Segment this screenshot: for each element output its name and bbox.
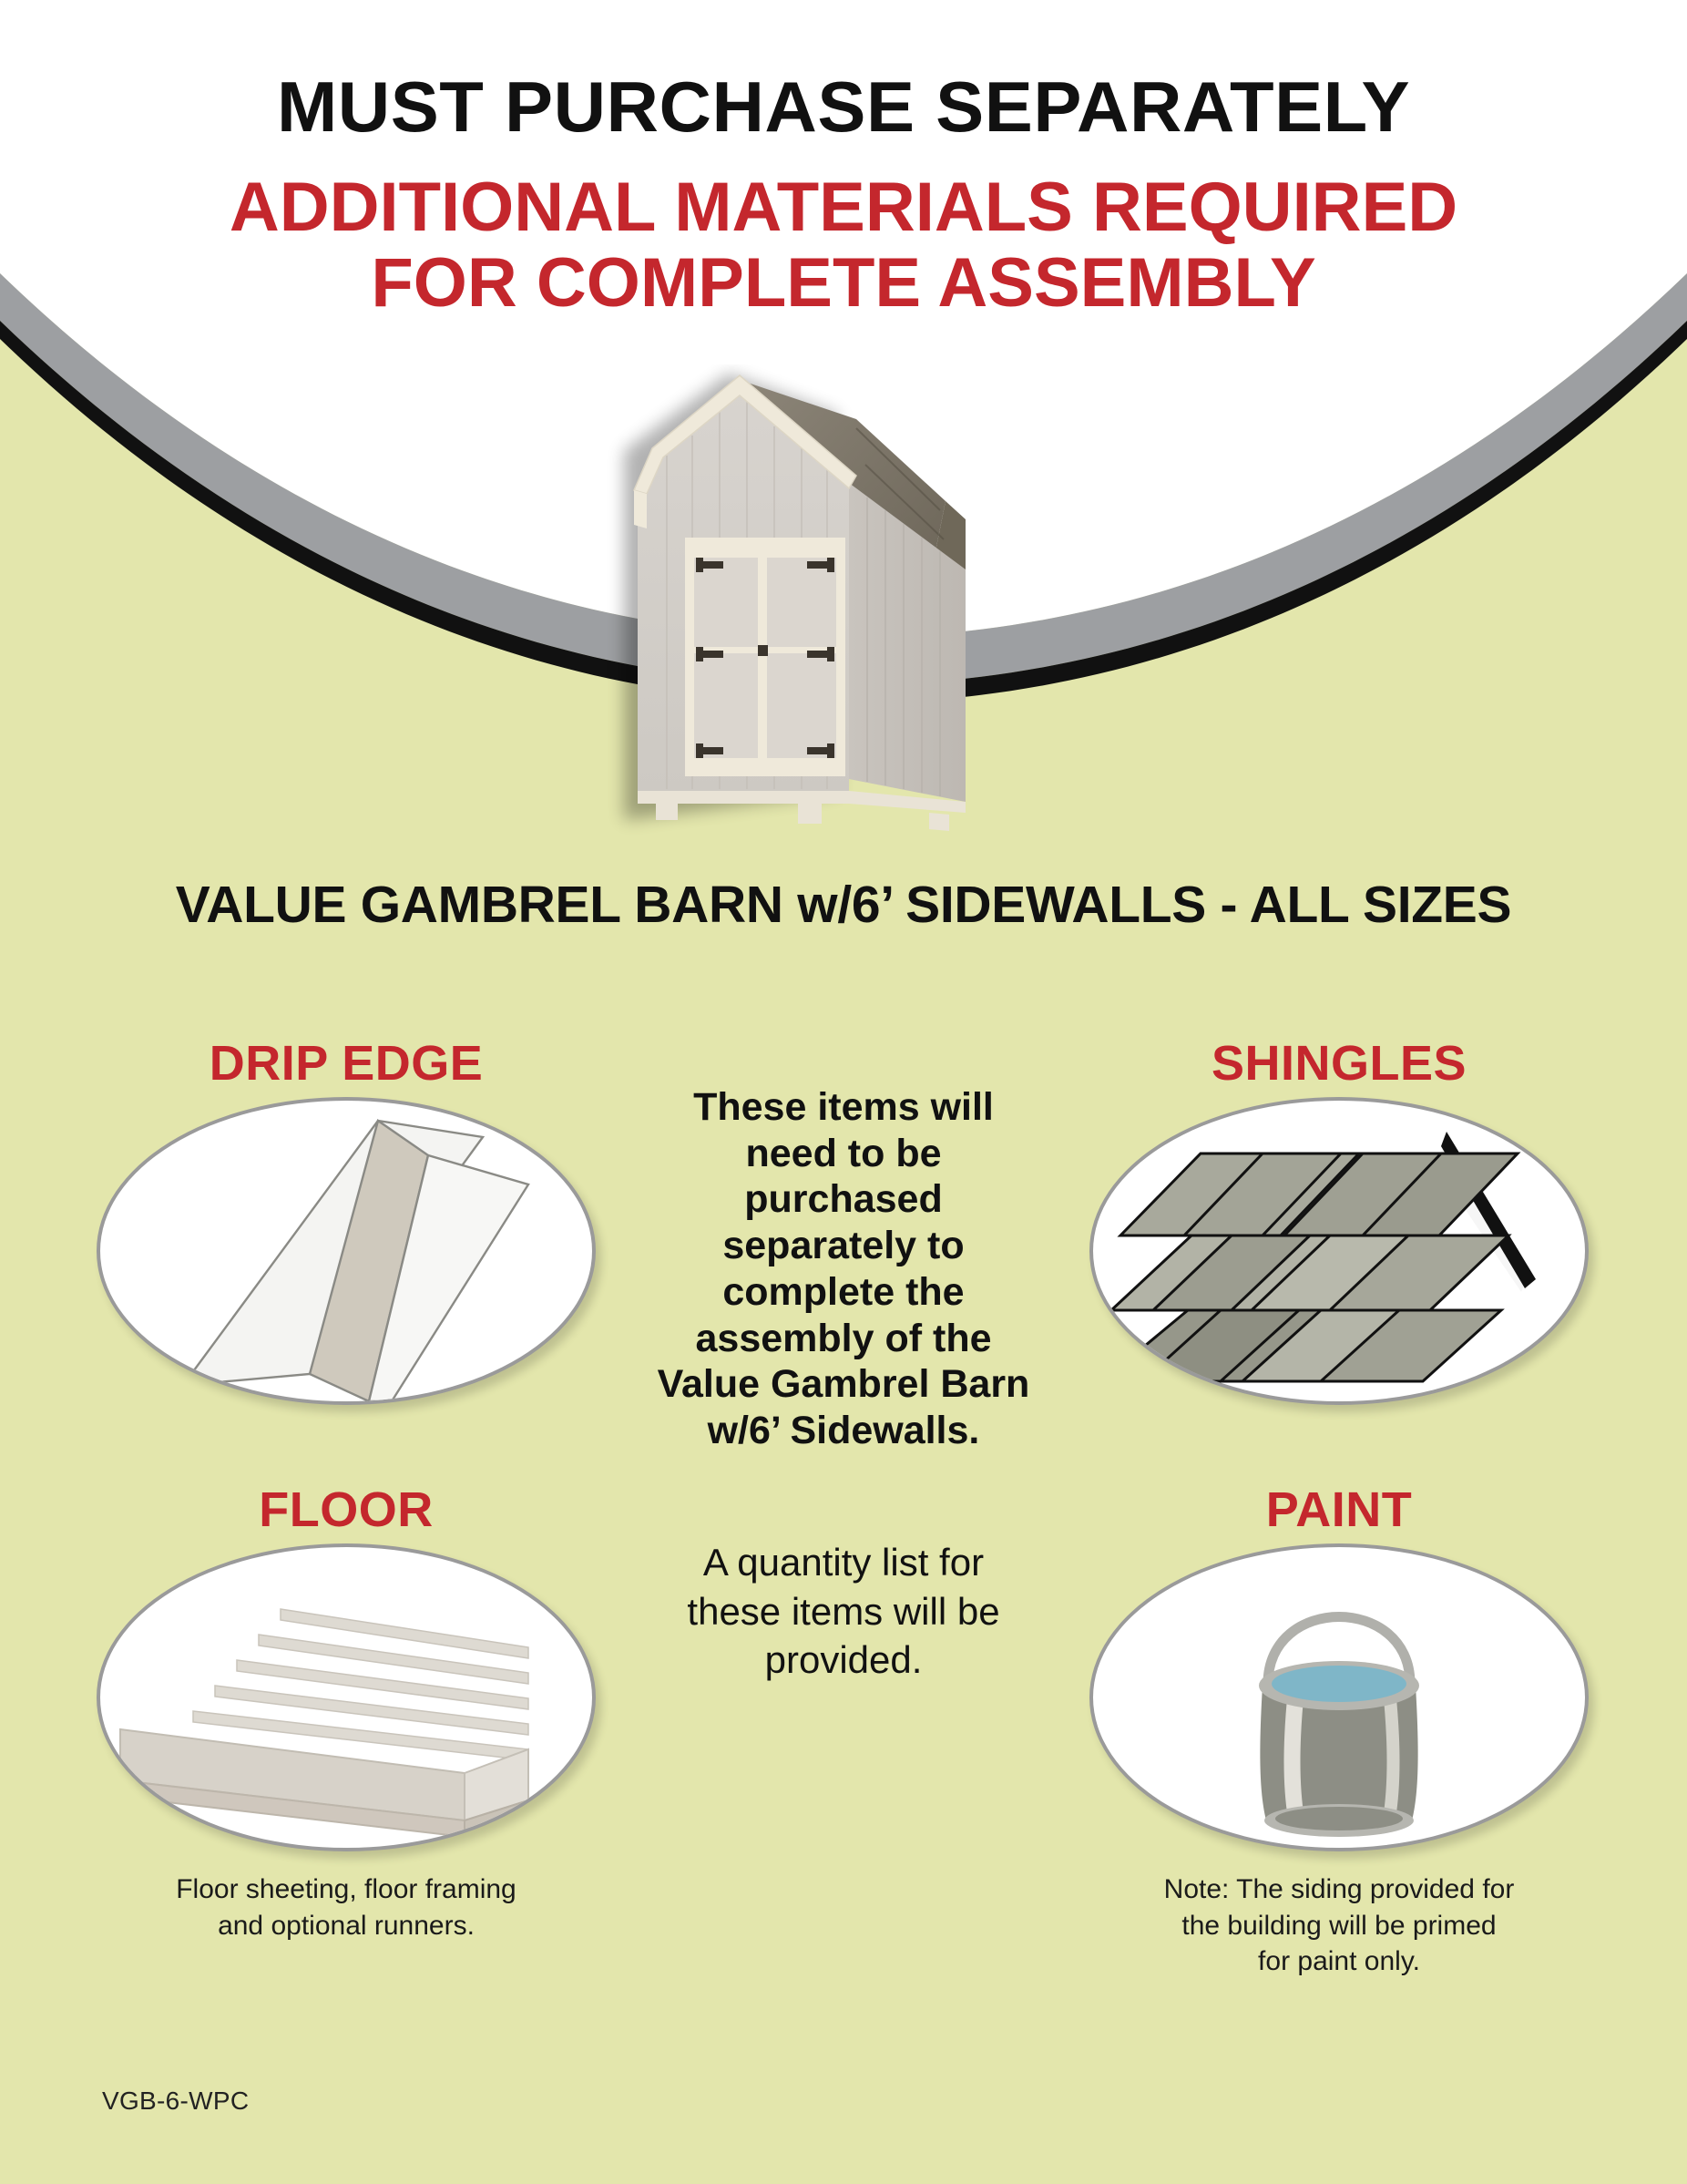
item-label-drip-edge: DRIP EDGE	[55, 1039, 638, 1088]
item-label-shingles: SHINGLES	[1048, 1039, 1631, 1088]
item-paint: PAINT Note: The siding provided for the …	[1048, 1485, 1631, 1980]
floor-oval	[97, 1543, 596, 1851]
page-title: VALUE GAMBREL BARN w/6’ SIDEWALLS - ALL …	[0, 875, 1687, 935]
shingles-icon	[1093, 1101, 1585, 1401]
shed-illustration	[583, 364, 1093, 838]
center-light-text: A quantity list for these items will be …	[652, 1538, 1035, 1685]
drip-edge-icon	[100, 1101, 592, 1401]
floor-frame-icon	[100, 1547, 592, 1848]
header-titles: MUST PURCHASE SEPARATELY ADDITIONAL MATE…	[0, 0, 1687, 319]
shingles-oval	[1089, 1097, 1589, 1405]
center-bold-text: These items will need to be purchased se…	[652, 1084, 1035, 1454]
item-label-floor: FLOOR	[55, 1485, 638, 1534]
header-line3: FOR COMPLETE ASSEMBLY	[0, 247, 1687, 319]
header-line2: ADDITIONAL MATERIALS REQUIRED	[0, 171, 1687, 243]
paint-oval	[1089, 1543, 1589, 1851]
item-label-paint: PAINT	[1048, 1485, 1631, 1534]
poster-page: MUST PURCHASE SEPARATELY ADDITIONAL MATE…	[0, 0, 1687, 2184]
paint-bucket-icon	[1093, 1547, 1585, 1848]
item-shingles: SHINGLES	[1048, 1039, 1631, 1405]
drip-edge-oval	[97, 1097, 596, 1405]
item-floor: FLOOR	[55, 1485, 638, 1943]
item-caption-paint: Note: The siding provided for the buildi…	[1048, 1871, 1631, 1980]
item-caption-floor: Floor sheeting, floor framing and option…	[55, 1871, 638, 1943]
center-text-column: These items will need to be purchased se…	[652, 1084, 1035, 1685]
item-drip-edge: DRIP EDGE	[55, 1039, 638, 1405]
header-line1: MUST PURCHASE SEPARATELY	[0, 71, 1687, 142]
document-code: VGB-6-WPC	[102, 2087, 249, 2116]
